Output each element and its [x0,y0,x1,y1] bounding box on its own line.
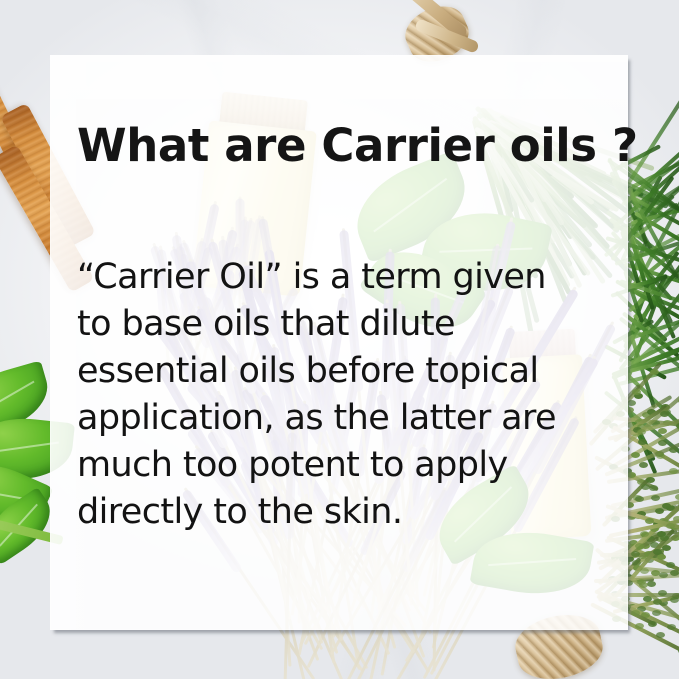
thyme-leaf-icon [637,579,646,585]
page-title: What are Carrier oils ? [77,123,638,168]
body-line: directly to the skin. [77,489,607,536]
body-line: application, as the latter are [77,395,607,442]
poster-canvas: What are Carrier oils ? “Carrier Oil” is… [0,0,679,679]
thyme-leaf-icon [670,597,679,603]
thyme-leaf-icon [675,494,679,500]
thyme-leaf-icon [631,452,640,458]
thyme-leaf-icon [648,621,657,627]
body-paragraph: “Carrier Oil” is a term given to base oi… [77,254,607,536]
thyme-leaf-icon [631,610,640,616]
thyme-leaf-icon [670,570,679,576]
body-line: essential oils before topical [77,348,607,395]
thyme-leaf-icon [657,554,666,560]
thyme-leaf-icon [640,531,649,537]
thyme-leaf-icon [640,568,649,574]
thyme-leaf-icon [666,562,675,568]
body-line: to base oils that dilute [77,301,607,348]
thyme-leaf-icon [666,523,675,529]
body-line: much too potent to apply [77,442,607,489]
thyme-leaf-icon [660,411,669,417]
thyme-leaf-icon [635,496,644,502]
thyme-leaf-icon [656,632,665,638]
thyme-leaf-icon [658,590,667,596]
thyme-leaf-icon [651,495,660,501]
thyme-leaf-icon [669,447,678,453]
thyme-leaf-icon [639,462,648,468]
thyme-leaf-icon [647,581,656,587]
thyme-leaf-icon [646,477,655,483]
thyme-leaf-icon [658,440,667,446]
body-line: “Carrier Oil” is a term given [77,254,607,301]
thyme-leaf-icon [643,596,652,602]
thyme-leaf-icon [637,429,646,435]
white-overlay-card: What are Carrier oils ? “Carrier Oil” is… [50,55,628,630]
card-content: What are Carrier oils ? “Carrier Oil” is… [50,55,628,630]
thyme-leaf-icon [652,610,661,616]
